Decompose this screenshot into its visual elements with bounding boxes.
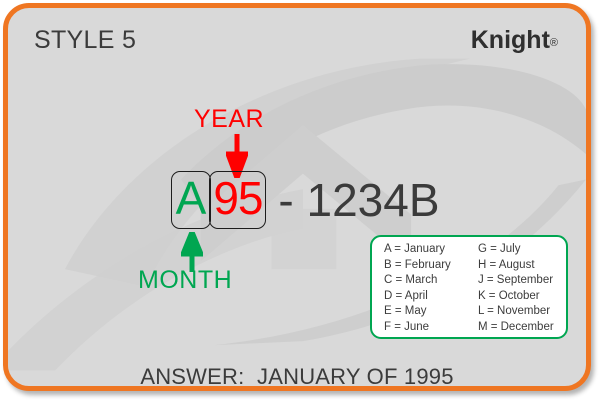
screenshot-canvas: STYLE 5 Knight® YEAR MONTH A 95 - 1234B: [0, 0, 600, 400]
brand-logo-text: Knight®: [471, 26, 558, 55]
legend-columns: A = January B = February C = March D = A…: [372, 242, 566, 336]
legend-item: C = March: [384, 273, 478, 289]
month-code-legend: A = January B = February C = March D = A…: [370, 235, 568, 339]
legend-item: G = July: [478, 242, 566, 258]
legend-column-left: A = January B = February C = March D = A…: [384, 242, 478, 336]
legend-item: M = December: [478, 320, 566, 336]
year-code-box: 95: [209, 171, 266, 229]
legend-item: F = June: [384, 320, 478, 336]
month-code-char: A: [176, 175, 207, 221]
year-code-digits: 95: [213, 175, 262, 221]
legend-column-right: G = July H = August J = September K = Oc…: [478, 242, 566, 336]
code-remainder: - 1234B: [278, 177, 439, 223]
legend-item: D = April: [384, 289, 478, 305]
year-callout-label: YEAR: [194, 105, 264, 134]
legend-item: K = October: [478, 289, 566, 305]
legend-item: L = November: [478, 304, 566, 320]
legend-item: B = February: [384, 258, 478, 274]
month-callout-label: MONTH: [138, 266, 232, 295]
style-label: STYLE 5: [34, 26, 136, 55]
date-code-display: A 95 - 1234B: [171, 171, 440, 229]
answer-text: ANSWER: JANUARY OF 1995: [8, 364, 586, 390]
legend-item: J = September: [478, 273, 566, 289]
legend-item: H = August: [478, 258, 566, 274]
legend-item: A = January: [384, 242, 478, 258]
date-code-card: STYLE 5 Knight® YEAR MONTH A 95 - 1234B: [3, 3, 591, 391]
month-code-box: A: [171, 171, 211, 229]
brand-name: Knight: [471, 26, 550, 54]
legend-item: E = May: [384, 304, 478, 320]
registered-trademark-icon: ®: [550, 37, 558, 49]
